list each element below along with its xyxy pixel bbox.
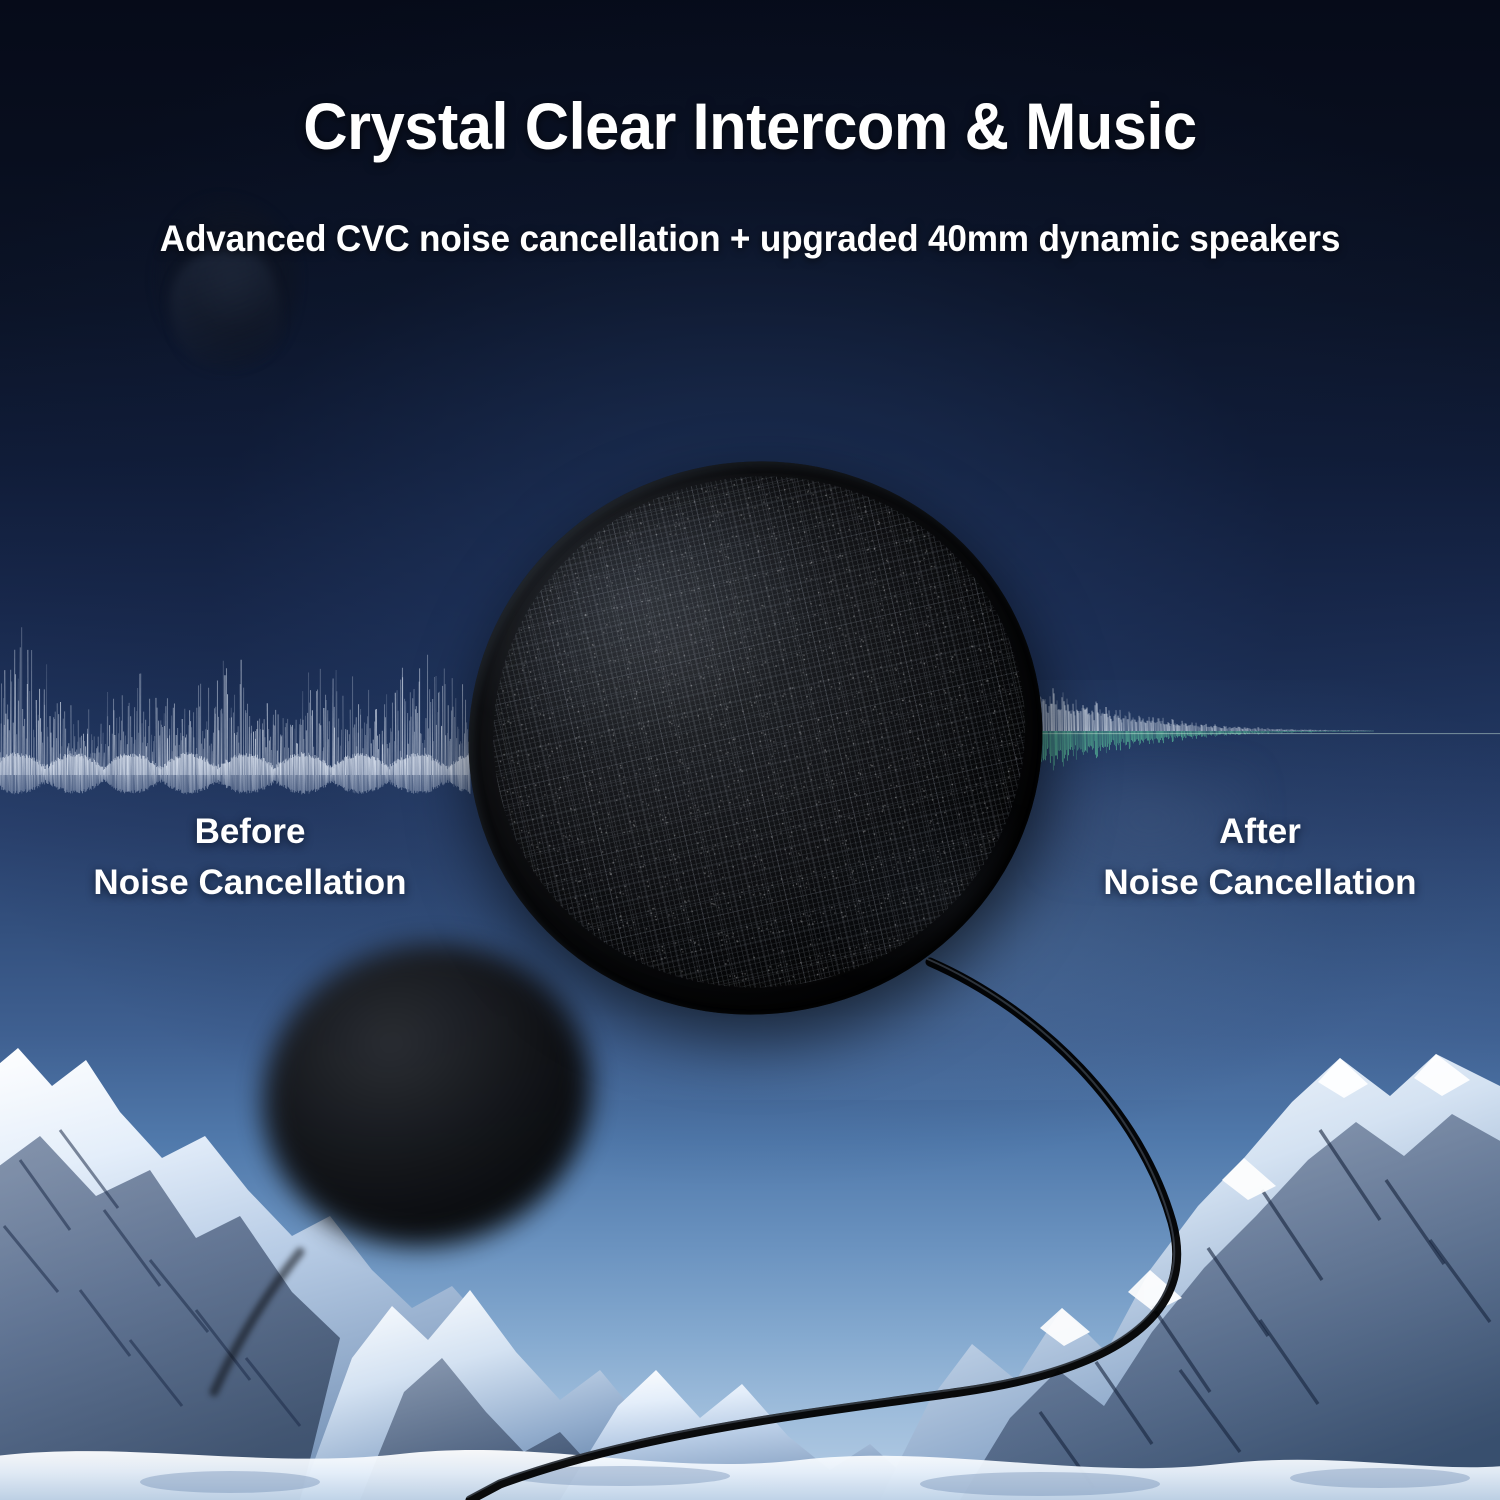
dark-rock-silhouette-secondary bbox=[170, 250, 280, 370]
mountain-right-rockface bbox=[960, 1114, 1500, 1500]
label-before-noise-cancellation: Before Noise Cancellation bbox=[30, 806, 470, 908]
label-after-line2: Noise Cancellation bbox=[1035, 857, 1485, 908]
page-title: Crystal Clear Intercom & Music bbox=[53, 88, 1448, 164]
label-before-line1: Before bbox=[30, 806, 470, 857]
page-subtitle: Advanced CVC noise cancellation + upgrad… bbox=[38, 218, 1463, 260]
product-feature-banner: Crystal Clear Intercom & Music Advanced … bbox=[0, 0, 1500, 1500]
label-after-noise-cancellation: After Noise Cancellation bbox=[1035, 806, 1485, 908]
snow-mountain-range bbox=[0, 1040, 1500, 1500]
label-after-line1: After bbox=[1035, 806, 1485, 857]
label-before-line2: Noise Cancellation bbox=[30, 857, 470, 908]
